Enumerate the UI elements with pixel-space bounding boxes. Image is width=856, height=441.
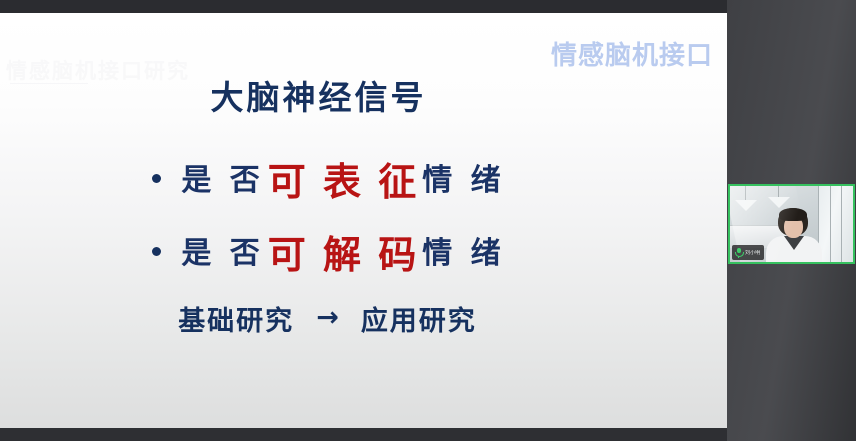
right-arrow-icon: → — [316, 302, 339, 333]
participant-sidebar: 刘小明 — [727, 0, 856, 441]
slide-running-head: 情感脑机接口 — [551, 35, 713, 72]
video-background-window — [818, 186, 853, 262]
presentation-slide[interactable]: 情感脑机接口研究 情感脑机接口 大脑神经信号 是 否 可 表 征 情 绪 是 否… — [0, 13, 727, 428]
footer-right-term: 应用研究 — [361, 299, 477, 338]
bullet-suffix: 情 绪 — [422, 155, 504, 199]
bullet-item: 是 否 可 解 码 情 绪 — [0, 213, 727, 286]
participant-video-tile[interactable]: 刘小明 — [728, 184, 855, 264]
bullet-dot-icon — [152, 247, 161, 256]
bullet-prefix: 是 否 — [181, 155, 263, 199]
bullet-item: 是 否 可 表 征 情 绪 — [0, 140, 727, 213]
microphone-icon[interactable] — [735, 248, 742, 258]
share-top-letterbox — [0, 0, 727, 13]
bullet-dot-icon — [152, 174, 161, 183]
slide-footer-line: 基础研究 → 应用研究 — [0, 299, 727, 338]
bullet-emphasis: 可 表 征 — [268, 151, 418, 206]
slide-bullet-list: 是 否 可 表 征 情 绪 是 否 可 解 码 情 绪 — [0, 140, 727, 286]
share-bottom-letterbox — [0, 428, 727, 441]
bullet-prefix: 是 否 — [181, 228, 263, 272]
video-conference-window: 情感脑机接口研究 情感脑机接口 大脑神经信号 是 否 可 表 征 情 绪 是 否… — [0, 0, 856, 441]
footer-left-term: 基础研究 — [178, 299, 294, 338]
participant-name-badge: 刘小明 — [732, 245, 764, 260]
bullet-emphasis: 可 解 码 — [268, 224, 418, 279]
bullet-suffix: 情 绪 — [422, 228, 504, 272]
slide-title: 大脑神经信号 — [0, 71, 727, 119]
shared-screen-region[interactable]: 情感脑机接口研究 情感脑机接口 大脑神经信号 是 否 可 表 征 情 绪 是 否… — [0, 0, 727, 441]
participant-name-label: 刘小明 — [745, 250, 760, 256]
